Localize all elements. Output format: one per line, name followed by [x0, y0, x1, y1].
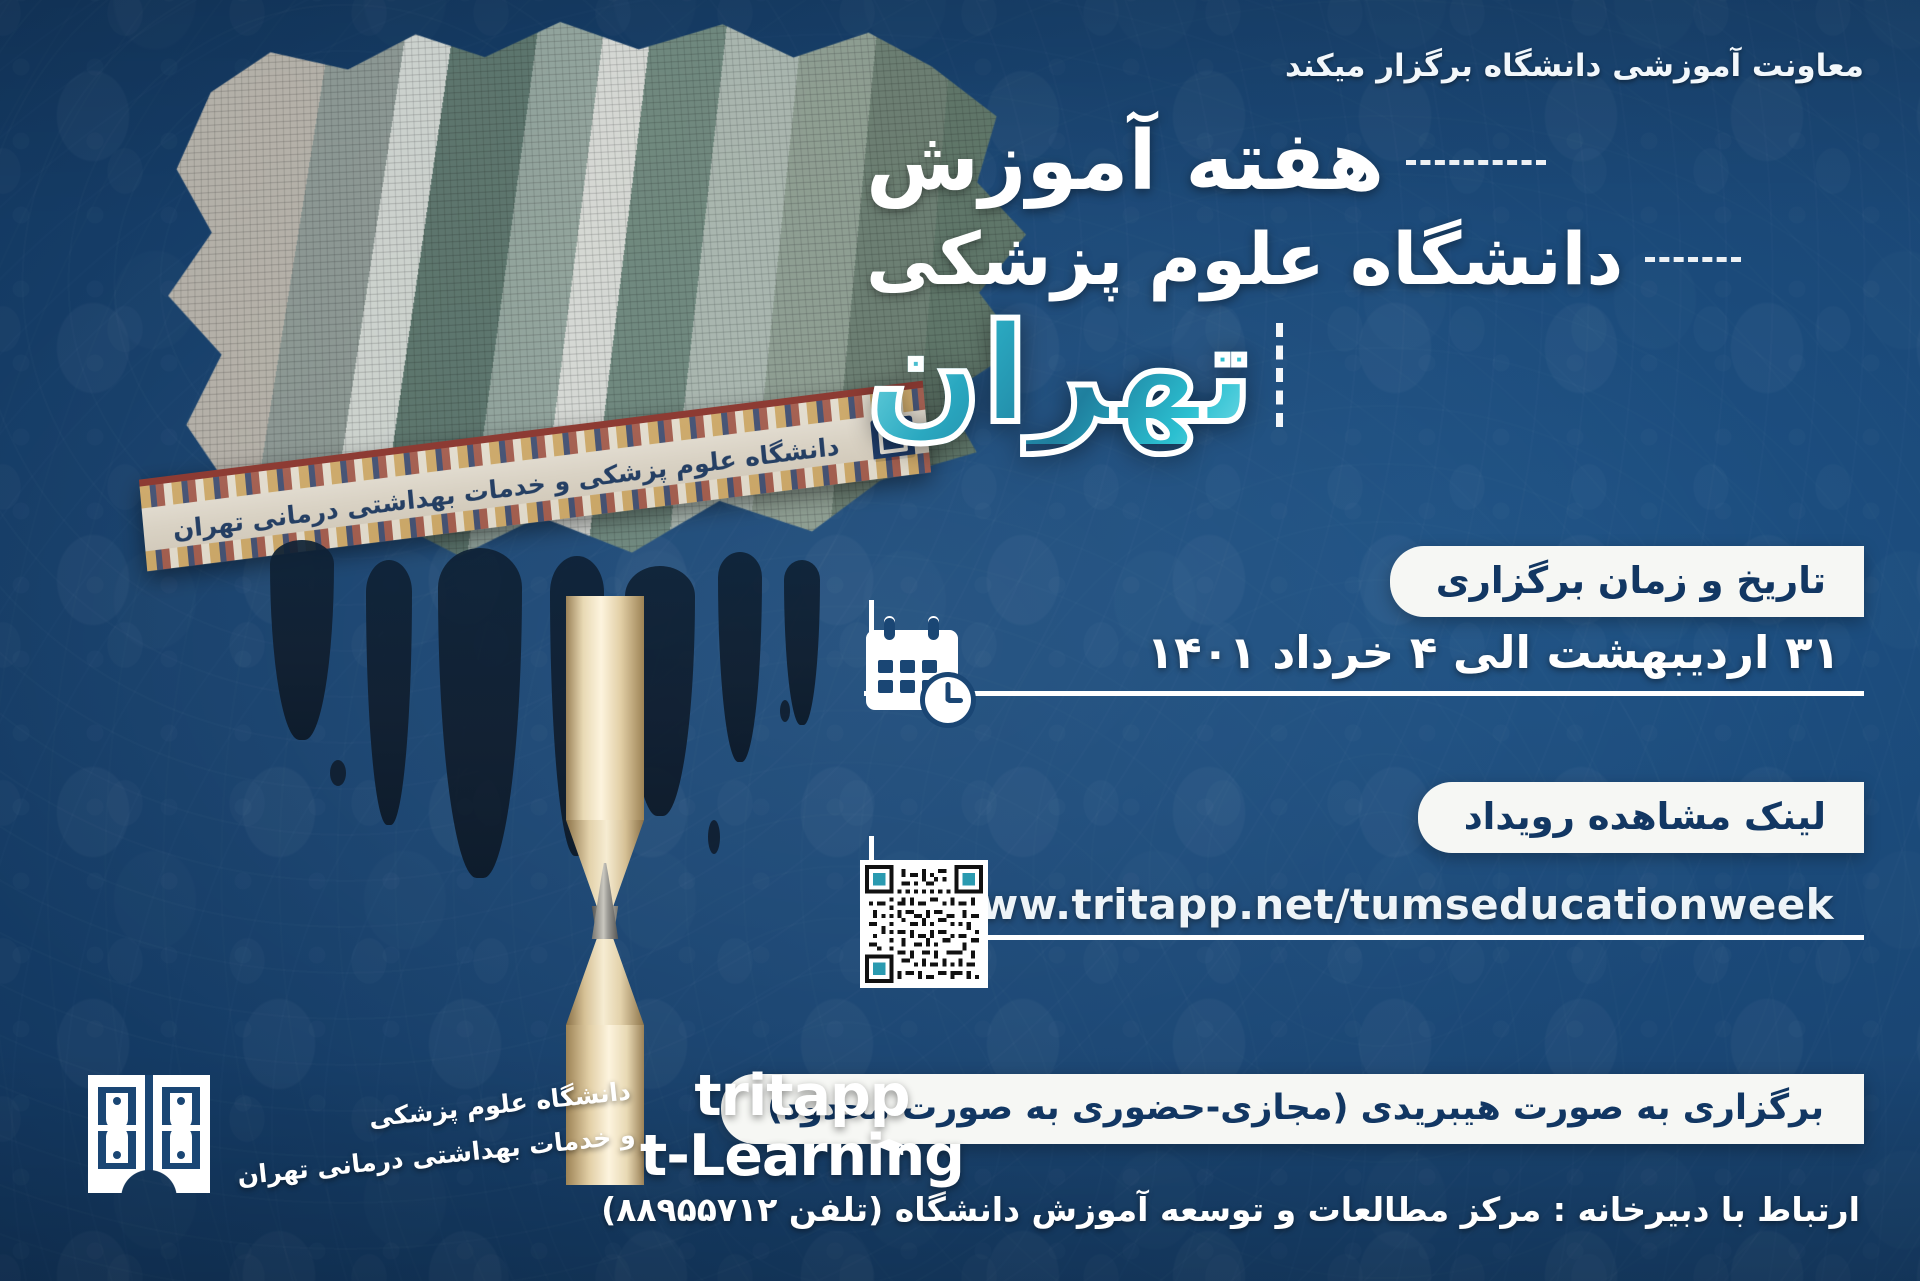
ink-drip — [438, 548, 522, 878]
pencil-bottom-wood — [566, 933, 644, 1025]
graduation-cap-icon — [872, 1107, 906, 1129]
pencil-top-lead — [590, 906, 620, 982]
ink-splatter — [780, 700, 790, 722]
pencil-top-wood — [566, 820, 644, 912]
qr-code-icon[interactable] — [860, 860, 988, 988]
title-dash-rule-3 — [1276, 323, 1283, 427]
ink-drip — [270, 540, 334, 740]
content-column: معاونت آموزشی دانشگاه برگزار میکند هفته … — [864, 0, 1874, 1281]
university-sign-text: دانشگاه علوم پزشکی و خدمات بهداشتی درمان… — [142, 419, 870, 556]
ink-drip — [550, 556, 604, 856]
tums-logo-text: دانشگاه علوم پزشکی و خدمات بهداشتی درمان… — [231, 1070, 638, 1199]
university-sign-band: دانشگاه علوم پزشکی و خدمات بهداشتی درمان… — [139, 381, 931, 572]
title-dash-rule-1 — [1406, 160, 1546, 165]
ink-drip — [625, 566, 695, 816]
ink-splatter — [330, 760, 346, 786]
title-line-2-row: دانشگاه علوم پزشکی — [866, 217, 1866, 302]
tritapp-logo-line2: t-Learning — [640, 1123, 964, 1189]
title-line-1-row: هفته آموزش — [866, 114, 1866, 211]
kicker-text: معاونت آموزشی دانشگاه برگزار میکند — [1285, 48, 1864, 84]
tritapp-logo-line1: tritapp — [640, 1063, 964, 1129]
ink-splatter — [708, 820, 720, 854]
title-block: هفته آموزش دانشگاه علوم پزشکی تهران — [866, 108, 1866, 444]
poster-canvas: دانشگاه علوم پزشکی و خدمات بهداشتی درمان… — [0, 0, 1920, 1281]
ink-drip — [366, 560, 412, 825]
title-city: تهران — [866, 306, 1254, 445]
datetime-value: ۳۱ اردیبهشت الی ۴ خرداد ۱۴۰۱ — [1147, 626, 1840, 679]
title-line-1: هفته آموزش — [866, 114, 1384, 211]
tums-logo-group: دانشگاه علوم پزشکی و خدمات بهداشتی درمان… — [88, 1075, 634, 1193]
title-line-2: دانشگاه علوم پزشکی — [866, 217, 1623, 302]
pencil-top — [566, 596, 644, 820]
title-line-3-row: تهران — [866, 306, 1866, 445]
ink-drip — [784, 560, 820, 725]
ink-drip — [718, 552, 762, 762]
contact-line: ارتباط با دبیرخانه : مرکز مطالعات و توسع… — [601, 1190, 1860, 1229]
calendar-clock-icon — [862, 614, 986, 732]
tums-logo-icon — [88, 1075, 210, 1193]
event-url[interactable]: www.tritapp.net/tumseducationweek — [940, 880, 1834, 929]
tritapp-logo: tritapp t-Learning — [640, 1063, 964, 1189]
pencil-bottom-lead — [590, 863, 620, 939]
title-dash-rule-2 — [1645, 257, 1741, 262]
